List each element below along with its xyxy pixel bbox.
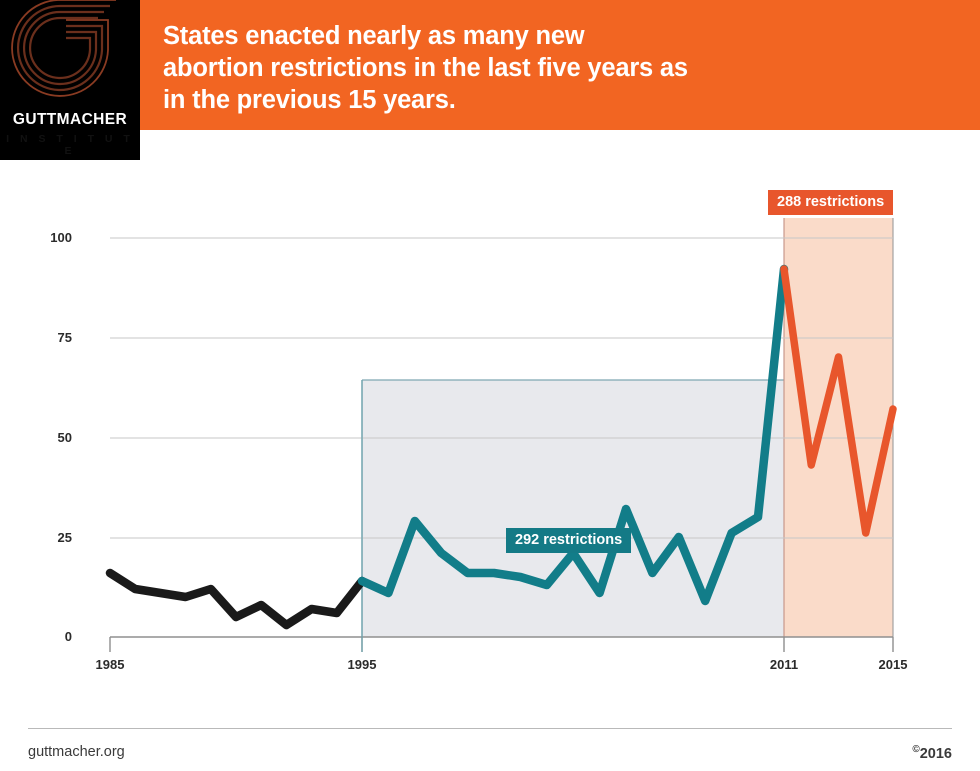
- header-banner: States enacted nearly as many new aborti…: [0, 0, 980, 130]
- shaded-region-previous-15-years: [362, 380, 784, 637]
- callout-288-restrictions: 288 restrictions: [768, 190, 893, 215]
- guttmacher-logo: GUTTMACHER I N S T I T U T E: [0, 0, 140, 160]
- chart-container: 100 75 50 25 0 1985 1995 2011 2015 292 r…: [0, 160, 980, 710]
- ytick-label-75: 75: [28, 330, 72, 345]
- axis-lines: [110, 637, 893, 652]
- logo-subtitle: I N S T I T U T E: [0, 133, 140, 157]
- copyright-symbol: ©: [912, 744, 919, 755]
- page-title: States enacted nearly as many new aborti…: [163, 20, 863, 116]
- ytick-label-50: 50: [28, 430, 72, 445]
- footer: guttmacher.org ©2016: [0, 710, 980, 771]
- xtick-label-2015: 2015: [858, 657, 928, 672]
- logo-wordmark: GUTTMACHER: [0, 112, 140, 128]
- footer-website[interactable]: guttmacher.org: [28, 744, 125, 760]
- copyright-year-text: 2016: [920, 746, 952, 762]
- xtick-label-1995: 1995: [327, 657, 397, 672]
- footer-divider: [28, 728, 952, 729]
- xtick-label-2011: 2011: [749, 657, 819, 672]
- ytick-label-25: 25: [28, 530, 72, 545]
- series-line-1985-1995: [110, 573, 362, 625]
- g-monogram-icon: [0, 0, 140, 112]
- ytick-label-100: 100: [28, 230, 72, 245]
- line-chart: [0, 160, 980, 710]
- ytick-label-0: 0: [28, 629, 72, 644]
- xtick-label-1985: 1985: [75, 657, 145, 672]
- callout-292-restrictions: 292 restrictions: [506, 528, 631, 553]
- footer-copyright: ©2016: [912, 744, 952, 762]
- shaded-region-last-five-years: [784, 218, 893, 637]
